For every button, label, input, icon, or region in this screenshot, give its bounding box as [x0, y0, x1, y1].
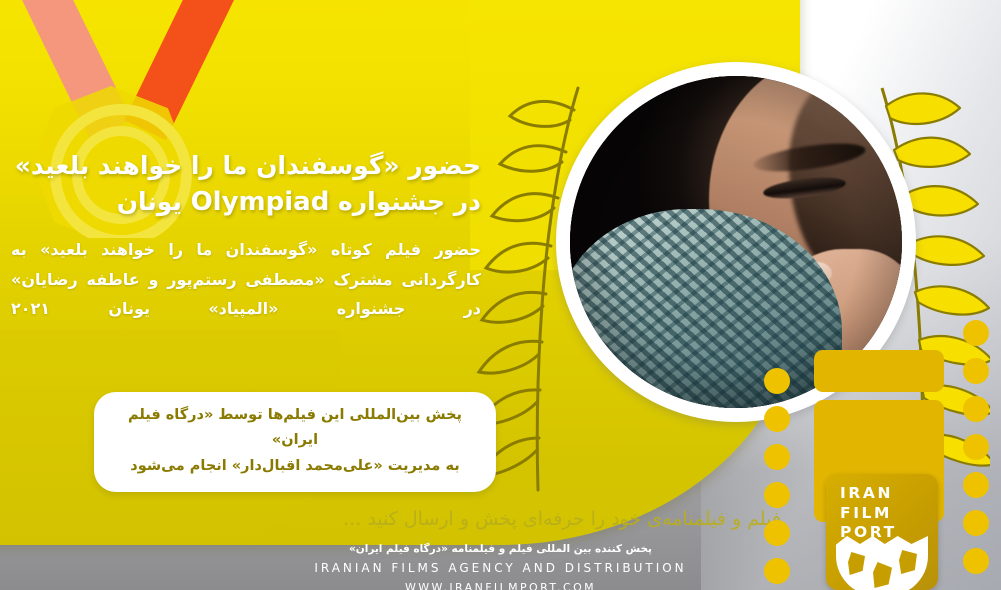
headline-festival-name: Olympiad [191, 187, 330, 217]
distribution-line-1: پخش بین‌المللی این فیلم‌ها توسط «درگاه ف… [112, 403, 478, 454]
footer-persian: پخش کننده بین المللی فیلم و فیلمنامه «در… [0, 542, 1001, 558]
headline-line-1: حضور «گوسفندان ما را خواهند بلعید» [11, 148, 481, 184]
logo-line-1: IRAN [840, 484, 897, 504]
logo-line-2: FILM [840, 504, 897, 524]
footer-english: IRANIAN FILMS AGENCY AND DISTRIBUTION [0, 558, 1001, 579]
headline-line-2-after: یونان [117, 187, 191, 216]
footer: پخش کننده بین المللی فیلم و فیلمنامه «در… [0, 542, 1001, 590]
poster-root: حضور «گوسفندان ما را خواهند بلعید» در جش… [0, 0, 1001, 590]
headline-line-2-before: در جشنواره [329, 187, 481, 216]
footer-website[interactable]: WWW.IRANFILMPORT.COM [0, 579, 1001, 590]
tagline-text: فیلم و فیلمنامه‌ی خود را حرفه‌ای پخش و ا… [221, 508, 781, 530]
logo-wordmark: IRAN FILM PORT [840, 484, 897, 543]
body-paragraph: حضور فیلم کوتاه «گوسفندان ما را خواهند ب… [11, 235, 481, 324]
page-title: حضور «گوسفندان ما را خواهند بلعید» در جش… [11, 148, 481, 220]
distribution-callout-box: پخش بین‌المللی این فیلم‌ها توسط «درگاه ف… [94, 392, 496, 492]
headline-line-2: در جشنواره Olympiad یونان [11, 184, 481, 221]
distribution-line-2: به مدیریت «علی‌محمد اقبال‌دار» انجام می‌… [112, 454, 478, 479]
